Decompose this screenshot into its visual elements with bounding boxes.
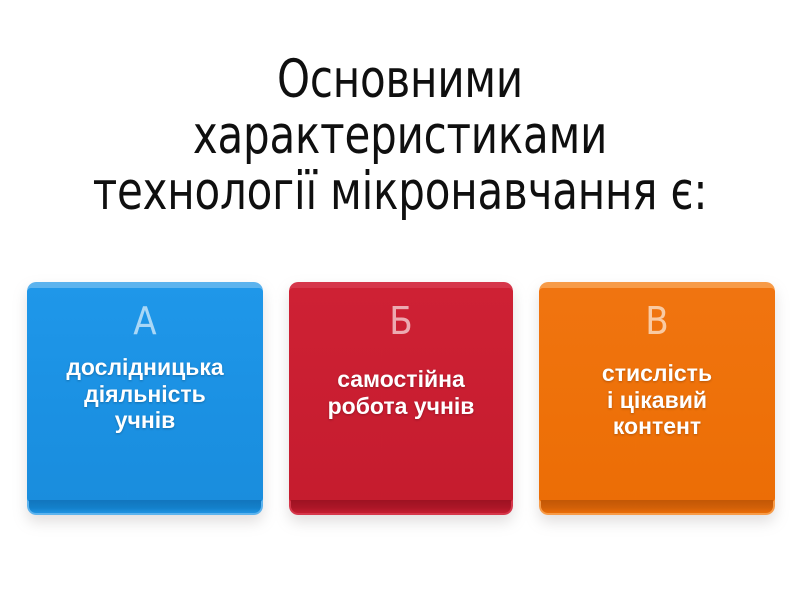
answer-text-c: стислість і цікавий контент bbox=[598, 360, 716, 440]
answer-letter-c: В bbox=[645, 302, 668, 340]
answer-text-b: самостійна робота учнів bbox=[324, 366, 479, 419]
question-area: Основними характеристиками технології мі… bbox=[10, 52, 790, 221]
question-text: Основними характеристиками технології мі… bbox=[57, 52, 743, 221]
answer-options-row: А дослідницька діяльність учнів Б самост… bbox=[27, 282, 775, 527]
quiz-slide: Основними характеристиками технології мі… bbox=[0, 0, 800, 600]
answer-card-c[interactable]: В стислість і цікавий контент bbox=[539, 282, 775, 515]
answer-card-a[interactable]: А дослідницька діяльність учнів bbox=[27, 282, 263, 515]
answer-letter-b: Б bbox=[389, 302, 412, 340]
answer-card-c-bevel bbox=[541, 500, 773, 513]
answer-card-a-bevel bbox=[29, 500, 261, 513]
answer-text-a: дослідницька діяльність учнів bbox=[62, 354, 227, 434]
answer-card-b-bevel bbox=[291, 500, 511, 513]
answer-card-b[interactable]: Б самостійна робота учнів bbox=[289, 282, 513, 515]
answer-letter-a: А bbox=[133, 302, 156, 340]
